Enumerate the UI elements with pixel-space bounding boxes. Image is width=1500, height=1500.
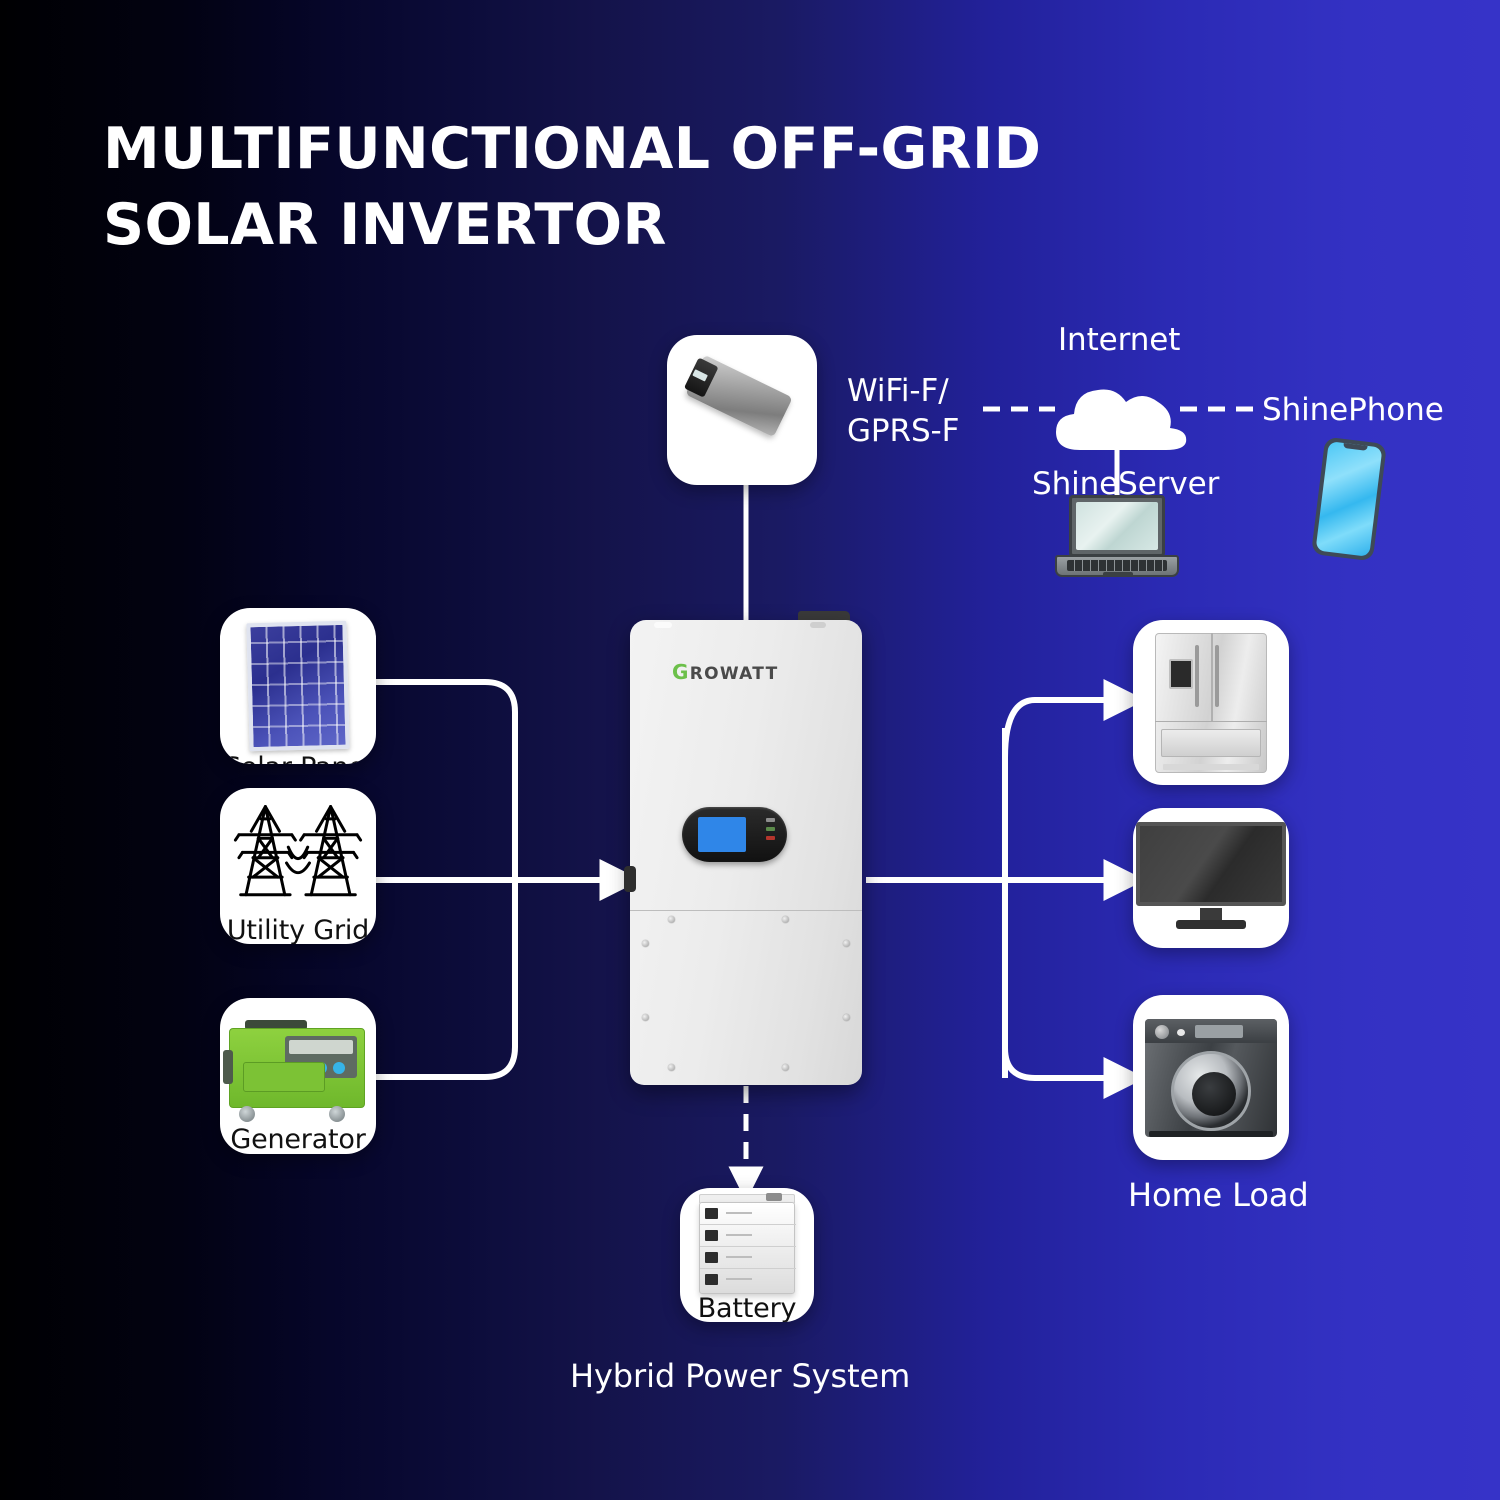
card-television[interactable] [1133, 808, 1289, 948]
laptop-base [1055, 555, 1179, 577]
refrigerator-handle-left [1195, 645, 1199, 707]
shineserver-label: ShineServer [1032, 466, 1219, 502]
inverter-screw-4 [843, 940, 850, 947]
led-indicator-green [766, 827, 775, 831]
phone-screen [1315, 441, 1382, 557]
inverter-notch-right [810, 622, 826, 628]
dongle-body [685, 355, 792, 438]
generator-wheel-right [329, 1106, 345, 1122]
washing-machine-base [1149, 1131, 1273, 1137]
battery-line-3 [726, 1256, 752, 1258]
generator-gauges [289, 1040, 353, 1054]
refrigerator-divider [1155, 721, 1267, 722]
refrigerator-door-split [1211, 633, 1213, 721]
card-label-solar-panel: Solar Panel [224, 754, 372, 764]
refrigerator-freezer-drawer [1161, 729, 1261, 757]
led-indicator-grey [766, 818, 775, 822]
battery-module-2 [700, 1225, 796, 1247]
television-screen [1136, 822, 1286, 906]
generator-access-door [243, 1062, 325, 1092]
card-generator[interactable]: Generator [220, 998, 376, 1154]
television-icon [1136, 822, 1286, 934]
washing-machine-icon [1145, 1019, 1277, 1137]
battery-stack-icon [687, 1192, 807, 1293]
inverter-seam [630, 910, 862, 911]
hybrid-power-system-label: Hybrid Power System [570, 1357, 910, 1395]
wire-solar-to-inverter [375, 682, 515, 880]
washing-machine-door [1171, 1051, 1251, 1131]
television-stand [1176, 920, 1246, 929]
card-washing-machine[interactable] [1133, 995, 1289, 1160]
battery-modules [699, 1202, 795, 1294]
power-pylon-icon [223, 796, 373, 915]
refrigerator-handle-right [1215, 645, 1219, 707]
home-load-label: Home Load [1128, 1176, 1309, 1214]
battery-tab-2 [705, 1230, 718, 1241]
battery-tab-3 [705, 1252, 718, 1263]
washing-machine-indicator [1177, 1029, 1185, 1036]
card-wifi-dongle[interactable] [667, 335, 817, 485]
solar-panel-icon [248, 622, 348, 750]
laptop-screen [1076, 502, 1158, 550]
solar-panel-art [246, 621, 349, 752]
laptop-keyboard [1067, 560, 1167, 571]
growatt-logo-text: ROWATT [690, 664, 779, 684]
inverter-chassis: GROWATT [630, 620, 862, 1085]
diagram-canvas: MULTIFUNCTIONAL OFF-GRID SOLAR INVERTOR [0, 0, 1500, 1500]
laptop-trackpad [1103, 572, 1133, 577]
dongle-connector [684, 357, 719, 397]
inverter-display-panel[interactable] [682, 807, 787, 862]
dongle-pin [692, 369, 708, 381]
card-battery[interactable]: Battery [680, 1188, 814, 1322]
led-indicator-red [766, 836, 775, 840]
laptop-icon [1055, 495, 1179, 585]
wire-bus-to-washing-machine [1005, 1048, 1122, 1078]
inverter-screw-5 [642, 1014, 649, 1021]
laptop-lid [1069, 495, 1165, 557]
washing-machine-control-panel [1145, 1019, 1277, 1043]
refrigerator-water-dispenser [1169, 659, 1193, 689]
card-refrigerator[interactable] [1133, 620, 1289, 785]
washing-machine-dial [1155, 1025, 1169, 1039]
battery-line-1 [726, 1212, 752, 1214]
card-utility-grid[interactable]: Utility Grid [220, 788, 376, 944]
battery-module-3 [700, 1247, 796, 1269]
shinephone-label: ShinePhone [1262, 392, 1444, 428]
inverter-screw-1 [668, 916, 675, 923]
inverter-screw-7 [668, 1064, 675, 1071]
card-label-generator: Generator [230, 1126, 365, 1153]
card-label-utility-grid: Utility Grid [227, 917, 369, 944]
battery-tab-4 [705, 1274, 718, 1285]
inverter-input-port [624, 866, 636, 892]
washing-machine-glass [1192, 1072, 1236, 1116]
inverter-status-leds [766, 818, 775, 840]
refrigerator-icon [1155, 633, 1267, 773]
growatt-logo-initial: G [672, 660, 690, 684]
wire-bus-to-refrigerator [1005, 700, 1122, 758]
card-solar-panel[interactable]: Solar Panel [220, 608, 376, 764]
battery-module-4 [700, 1269, 796, 1291]
battery-module-1 [700, 1203, 796, 1225]
battery-line-2 [726, 1234, 752, 1236]
inverter-screw-3 [642, 940, 649, 947]
refrigerator-base [1163, 764, 1259, 770]
dongle-label-line-2: GPRS-F [847, 412, 959, 452]
inverter-lcd-screen [698, 817, 746, 852]
inverter-notch-left [654, 622, 672, 628]
cloud-icon [1046, 378, 1194, 460]
inverter-screw-6 [843, 1014, 850, 1021]
dongle-label-line-1: WiFi-F/ [847, 372, 959, 412]
generator-icon [223, 1014, 373, 1124]
inverter-screw-2 [782, 916, 789, 923]
battery-terminal-knob [766, 1193, 782, 1201]
card-label-battery: Battery [698, 1295, 797, 1322]
dongle-label: WiFi-F/ GPRS-F [847, 372, 959, 451]
generator-wheel-left [239, 1106, 255, 1122]
generator-side-handle [223, 1050, 233, 1084]
generator-socket-3 [333, 1062, 345, 1074]
battery-tab-1 [705, 1208, 718, 1219]
battery-line-4 [726, 1278, 752, 1280]
wire-generator-to-inverter [375, 880, 515, 1077]
solar-inverter[interactable]: GROWATT [630, 620, 862, 1085]
inverter-screw-8 [782, 1064, 789, 1071]
wifi-dongle-icon [682, 366, 802, 454]
growatt-logo: GROWATT [672, 660, 778, 684]
internet-label: Internet [1058, 322, 1180, 358]
washing-machine-display [1195, 1025, 1243, 1038]
